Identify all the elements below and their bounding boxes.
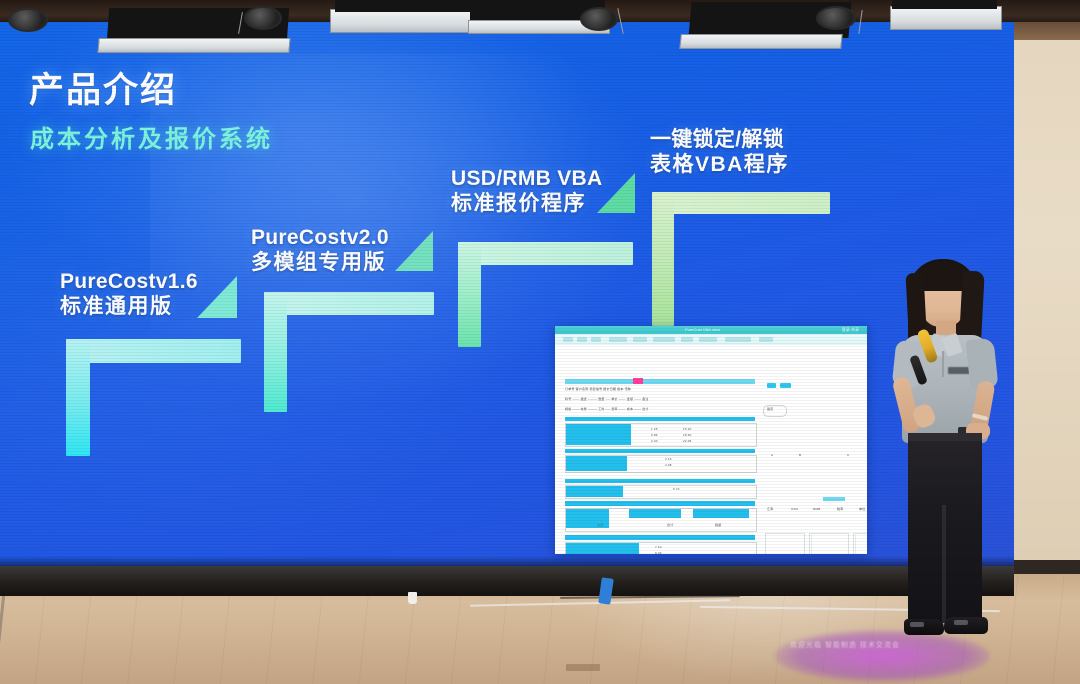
spreadsheet-screenshot: PureCost VBA.xlsm 登录 共享 订单号 客户名称 项目编号 报价… [555,326,867,554]
step-2-horizontal-bar [264,292,434,315]
slide-subtitle: 成本分析及报价系统 [30,119,273,154]
step-1-line2: 标准通用版 [60,294,198,320]
slide-title: 产品介绍 [29,62,177,113]
spotlight-can-3 [580,7,618,31]
spreadsheet-account-area: 登录 共享 [842,327,859,333]
step-2-vertical-bar [264,292,287,412]
step-4-label: 一键锁定/解锁 表格VBA程序 [650,127,789,178]
ceiling-light-panel-1 [97,38,290,53]
spotlight-can-2 [244,6,282,30]
right-wall [1012,0,1080,586]
step-4-line2: 表格VBA程序 [650,152,789,178]
presentation-photo: 欢迎光临 智能制造 技术交流会 产品介绍 成本分析及报价系统 PureCostv… [0,0,1080,684]
led-screen: 产品介绍 成本分析及报价系统 PureCostv1.6 标准通用版 PureCo… [0,14,1014,566]
floor-vent [566,664,600,671]
presenter-shoe-detail-left [910,622,924,627]
step-1-horizontal-bar [66,339,241,363]
presenter-waistband [908,433,982,441]
step-3-arrow-icon [597,173,635,213]
paper-cup [408,592,417,604]
step-3-horizontal-bar [458,242,633,265]
presenter [880,255,1010,684]
step-3-line1: USD/RMB VBA [451,166,602,191]
step-2-arrow-icon [395,231,433,271]
step-1-line1: PureCostv1.6 [60,269,198,294]
step-1-arrow-icon [197,276,237,318]
presenter-shirt-placket [942,351,944,377]
spotlight-can-1 [8,8,48,32]
ceiling-light-panel-4 [679,34,843,49]
step-4-horizontal-bar [652,192,830,214]
step-2-line2: 多模组专用版 [251,250,389,276]
step-4-vertical-bar [652,192,674,326]
spreadsheet-filename: PureCost VBA.xlsm [685,327,720,332]
spotlight-can-4 [816,6,856,30]
step-1-label: PureCostv1.6 标准通用版 [60,269,198,320]
screen-base-frame [0,566,1014,596]
step-2-label: PureCostv2.0 多模组专用版 [251,225,389,276]
ceiling-fixture-5 [892,0,997,9]
presenter-shoe-detail-right [954,620,968,625]
step-3-label: USD/RMB VBA 标准报价程序 [451,166,602,217]
ceiling-light-panel-2 [330,9,482,33]
ceiling-fixture-2 [335,0,475,12]
step-3-vertical-bar [458,242,481,347]
step-1-vertical-bar [66,339,90,456]
presenter-leg-separation [942,505,946,625]
spreadsheet-grid: 订单号 客户名称 项目编号 报价日期 版本 币种 料号 ─── 描述 ──── … [555,345,867,554]
step-4-line1: 一键锁定/解锁 [650,127,789,152]
ceiling-light-panel-5 [890,6,1002,30]
step-3-line2: 标准报价程序 [451,191,602,217]
step-2-line1: PureCostv2.0 [251,225,389,250]
